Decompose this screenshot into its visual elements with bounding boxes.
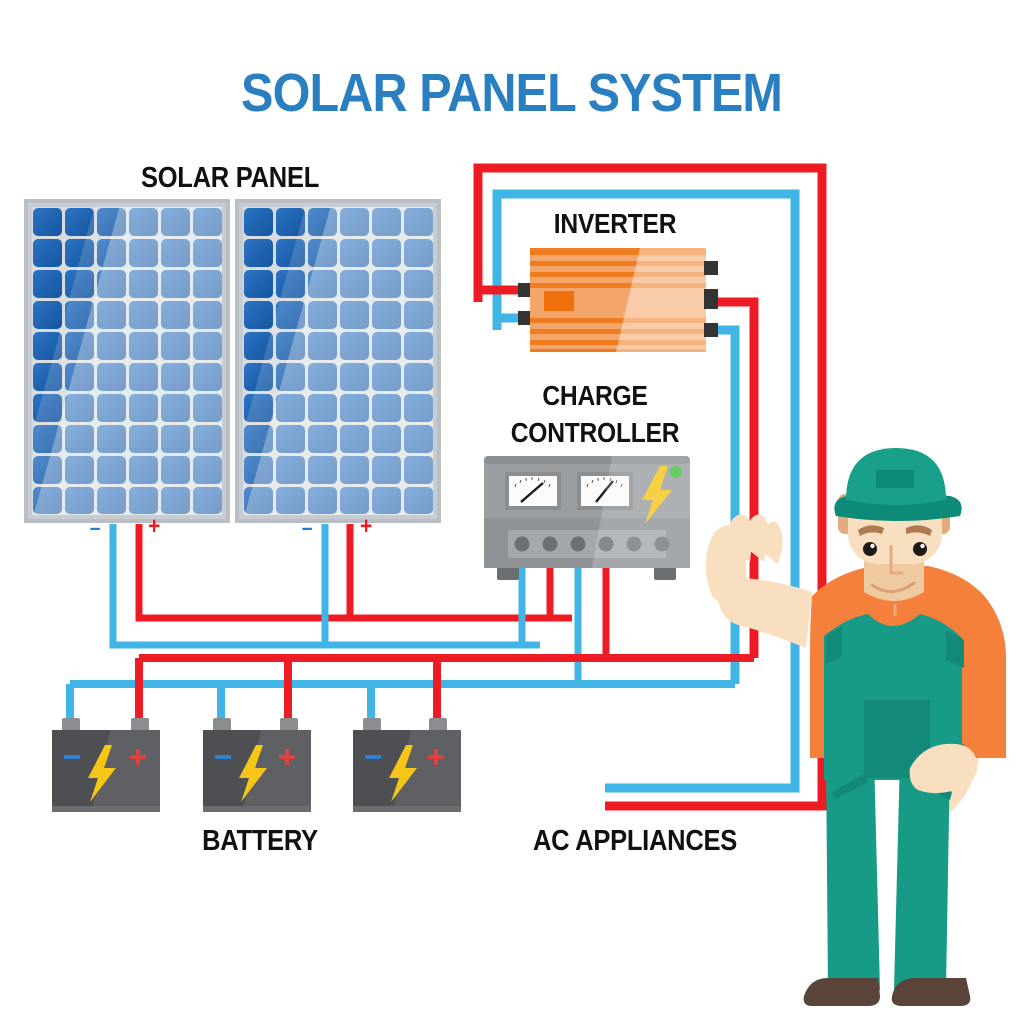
technician-figure[interactable] [0,0,1024,1024]
tech-eye-left [863,542,877,556]
solar-diagram-canvas: SOLAR PANEL SYSTEM [0,0,1024,1024]
tech-eye-right [913,542,927,556]
tech-boot-right [892,978,971,1006]
tech-cap-badge [876,470,914,488]
tech-arm-left [742,578,812,648]
tech-boot-left [804,978,880,1006]
